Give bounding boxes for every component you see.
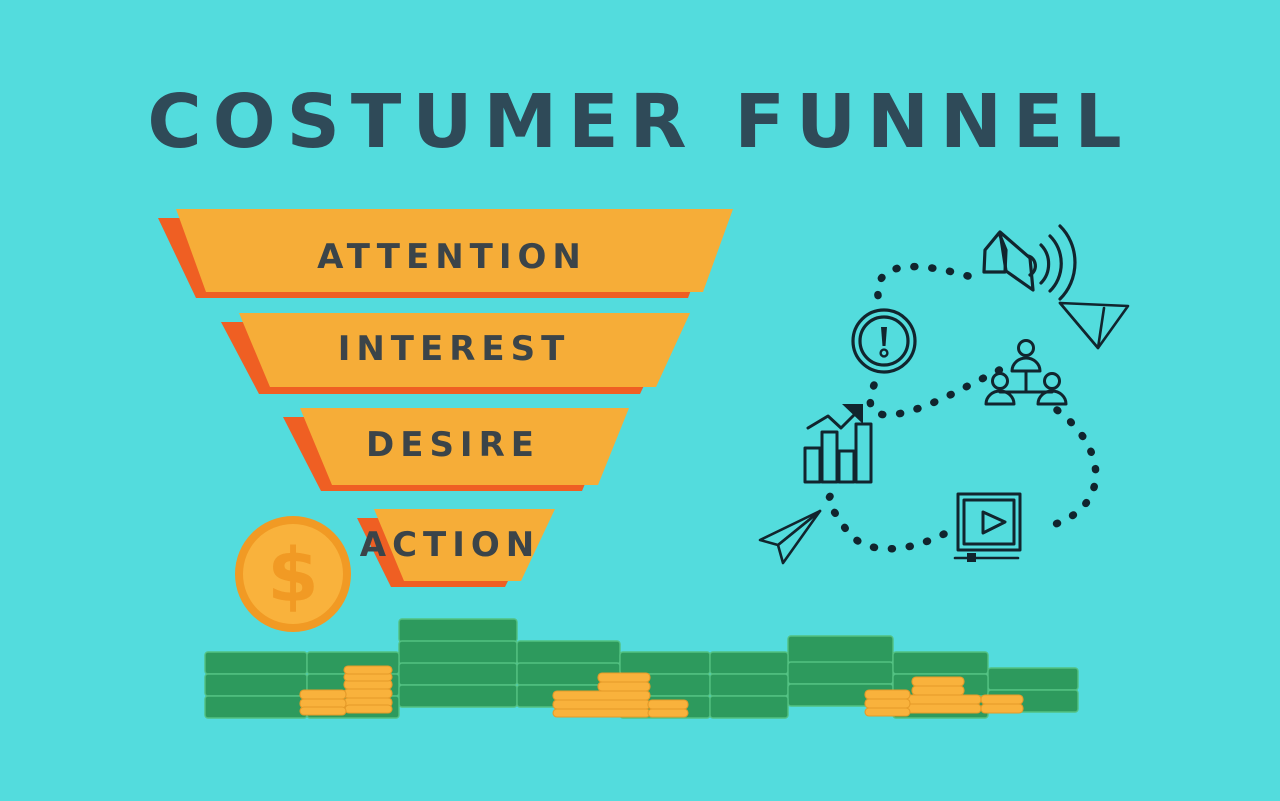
megaphone-wave-2 [1050, 236, 1061, 291]
bar-chart-bar-4 [856, 424, 871, 482]
banknote [399, 685, 517, 707]
dotted-path-segment-right [1042, 410, 1096, 528]
network-person-left-head [993, 374, 1008, 389]
video-frame-outer [958, 494, 1020, 550]
funnel-stage-action[interactable]: ACTION [357, 509, 555, 587]
funnel-stage-interest[interactable]: INTEREST [221, 313, 690, 394]
banknote [710, 652, 788, 674]
dotted-path-segment-bottom [829, 490, 944, 549]
funnel-stage-desire-label: DESIRE [366, 425, 540, 465]
video-player-icon [955, 494, 1020, 562]
network-person-right-head [1045, 374, 1060, 389]
banknote [788, 636, 893, 663]
megaphone-icon [984, 226, 1075, 299]
alert-exclamation-dot [881, 350, 888, 357]
funnel-stage-attention-label: ATTENTION [317, 237, 587, 277]
banknote [205, 696, 307, 718]
bar-chart-bar-3 [839, 451, 854, 482]
paper-plane-lower-wing [760, 511, 820, 545]
dotted-path-segment-top [878, 267, 968, 305]
banknote [620, 652, 710, 674]
money-stacks [205, 619, 1078, 718]
funnel-stage-attention[interactable]: ATTENTION [158, 209, 733, 298]
banknote [399, 641, 517, 664]
paper-plane-icon [760, 511, 820, 563]
paper-plane-wing-fold [1060, 303, 1104, 348]
bar-chart-bar-1 [805, 448, 820, 482]
funnel-stage-interest-label: INTEREST [338, 329, 571, 369]
people-network-icon [986, 341, 1066, 405]
megaphone-wave-1 [1041, 245, 1049, 283]
banknote [205, 652, 307, 674]
banknote [988, 668, 1078, 690]
bar-chart-trend-arrowhead [842, 404, 863, 424]
infographic-canvas: COSTUMER FUNNEL ATTENTION INTEREST DESIR… [0, 0, 1280, 801]
banknote [710, 674, 788, 696]
marketing-icon-scene [760, 226, 1128, 563]
banknote [399, 663, 517, 685]
network-person-top-head [1019, 341, 1034, 356]
video-play-triangle [983, 512, 1005, 533]
alert-circle-icon [853, 310, 915, 372]
video-scrubber-handle [967, 553, 976, 562]
banknote [399, 619, 517, 642]
dollar-coin: $ [235, 516, 351, 632]
dotted-path [829, 267, 1096, 549]
bar-chart-trend-line [808, 411, 858, 428]
alert-exclamation-bar [881, 327, 887, 346]
bar-chart-icon [805, 404, 871, 482]
funnel-stage-desire[interactable]: DESIRE [283, 408, 629, 491]
paper-plane-lower-tail [778, 511, 820, 563]
coin-dollar-symbol: $ [267, 533, 319, 619]
banknote [517, 641, 620, 664]
funnel-stage-action-label: ACTION [360, 525, 540, 565]
banknote [893, 652, 988, 674]
network-person-top-body [1012, 358, 1040, 371]
page-title: COSTUMER FUNNEL [147, 79, 1132, 165]
banknote [710, 696, 788, 718]
funnel-graphic: ATTENTION INTEREST DESIRE ACTION [158, 209, 733, 587]
bar-chart-bar-2 [822, 432, 837, 482]
paper-plane-icon [1060, 303, 1128, 348]
infographic-artwork: COSTUMER FUNNEL ATTENTION INTEREST DESIR… [0, 0, 1280, 801]
banknote [788, 662, 893, 684]
banknote [205, 674, 307, 696]
